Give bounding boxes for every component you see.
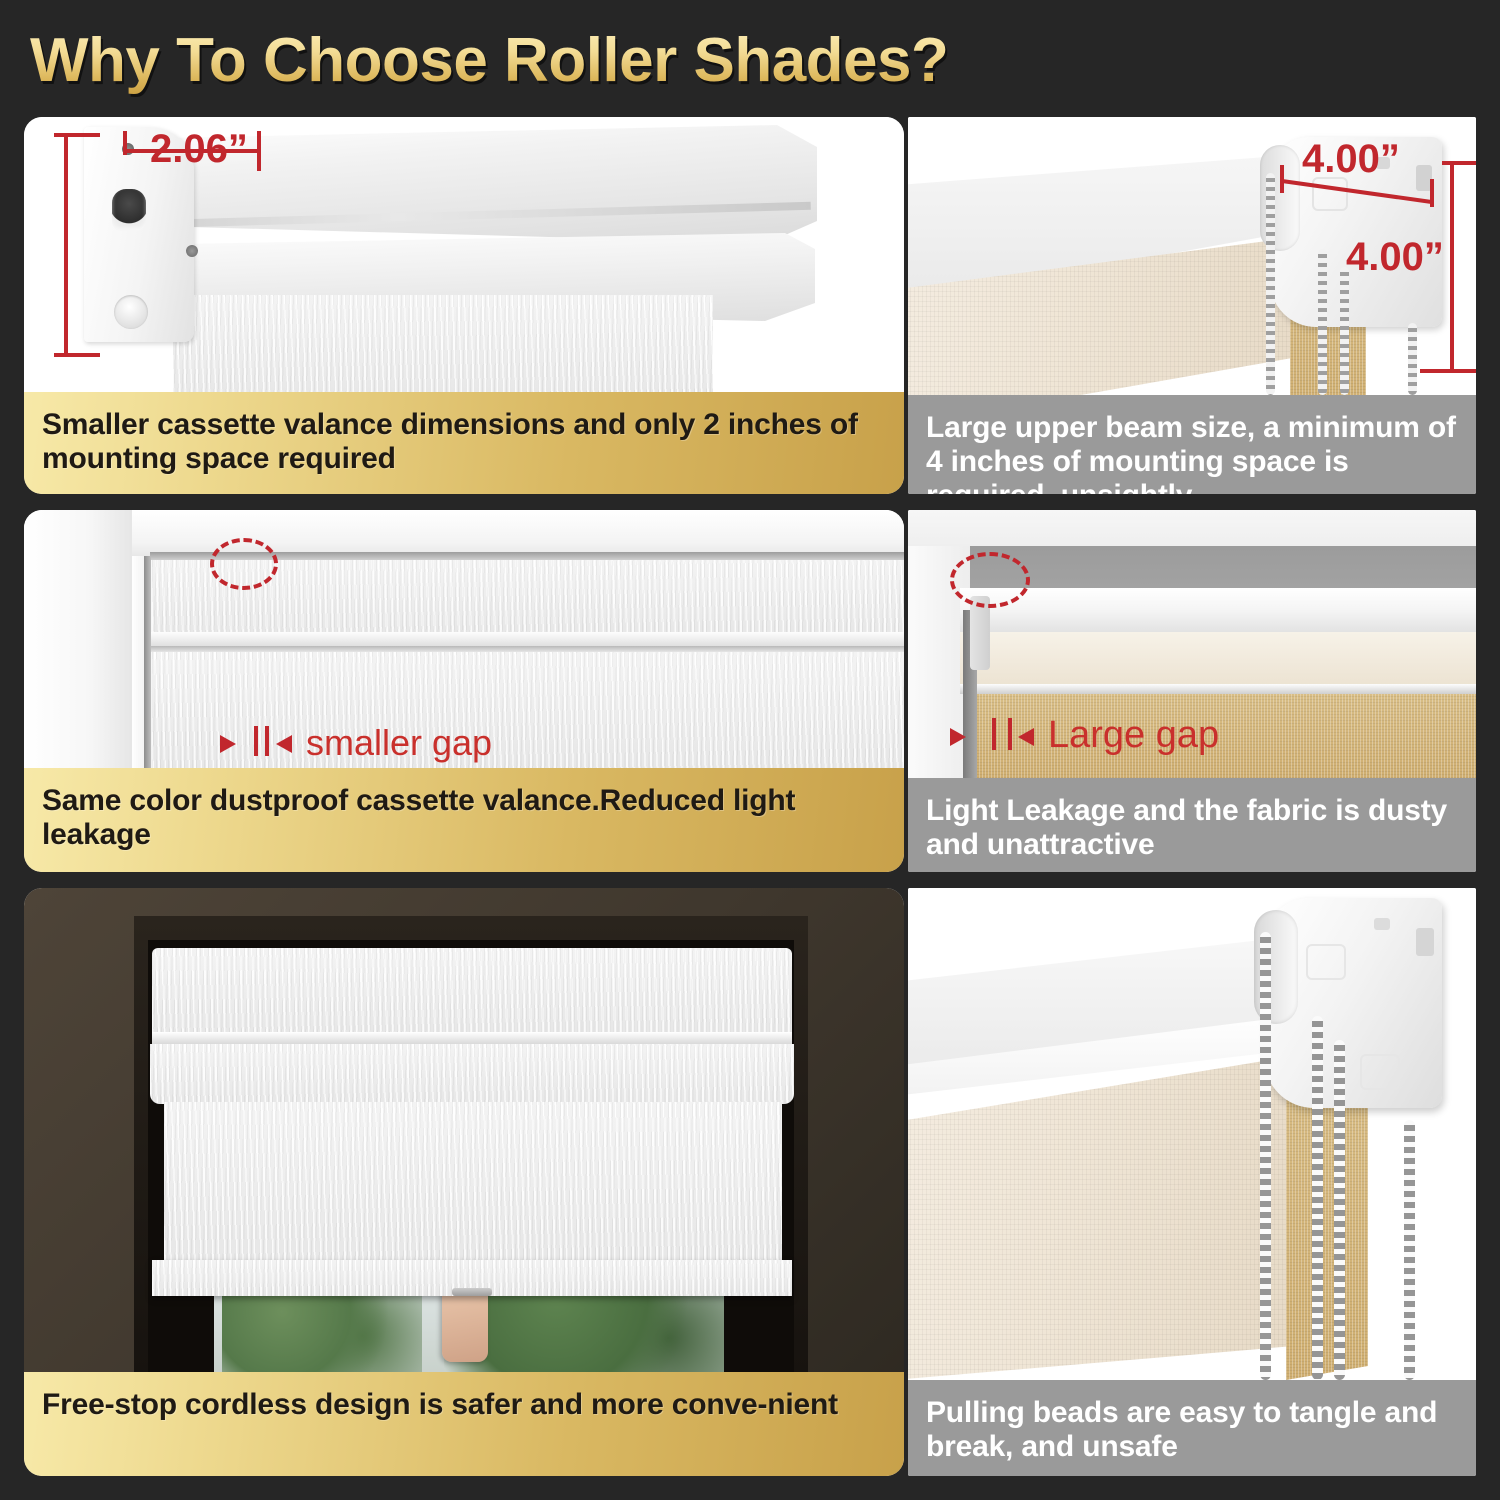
cassette-header	[152, 948, 792, 1036]
caption-con-large-gap: Light Leakage and the fabric is dusty an…	[908, 778, 1476, 872]
dim-beam-width-tick-left	[1280, 165, 1284, 193]
screw-boss-icon	[114, 295, 148, 329]
panel-pro-cordless-design: Free-stop cordless design is safer and m…	[24, 888, 904, 1476]
dim-width-tick-left	[123, 131, 127, 155]
gap-arrow-right-icon	[1018, 728, 1034, 746]
dim-beam-height-line	[1450, 163, 1454, 373]
bracket-emboss-icon	[1306, 944, 1346, 980]
cream-fabric-main	[908, 1056, 1294, 1380]
photo-large-gap: Large gap	[908, 510, 1476, 778]
callout-ring-icon	[210, 538, 278, 590]
bead-chain-3	[1334, 1040, 1345, 1380]
shade-fabric-drop	[164, 1102, 782, 1262]
clutch-opening-icon	[112, 189, 146, 231]
bracket-slot-2-icon	[1374, 918, 1390, 930]
dim-width-label: 2.06”	[150, 127, 248, 172]
rolled-tube	[150, 1044, 794, 1104]
gap-arrow-left-icon	[950, 728, 966, 746]
gap-arrow-left-icon	[220, 735, 236, 753]
screw-head-2-icon	[186, 245, 198, 257]
bead-chain-4	[1404, 1120, 1415, 1380]
callout-ring-icon	[950, 552, 1030, 608]
cream-valance-strip	[960, 632, 1476, 686]
bead-chain-1	[1266, 173, 1275, 395]
photo-smaller-gap: smaller gap	[24, 510, 904, 768]
tan-fabric-panel	[970, 694, 1476, 778]
caption-con-pulling-beads: Pulling beads are easy to tangle and bre…	[908, 1380, 1476, 1476]
bead-chain-1	[1260, 932, 1271, 1380]
page-title: Why To Choose Roller Shades?	[30, 22, 1230, 100]
bead-chain-4	[1408, 323, 1417, 395]
caption-pro-cassette-dimensions: Smaller cassette valance dimensions and …	[24, 392, 904, 494]
gap-tick-2	[265, 726, 269, 756]
gap-tick-1	[992, 718, 996, 750]
wall-upper	[908, 510, 1476, 546]
dim-height-tick-top	[54, 133, 100, 137]
panel-con-upper-beam-size: 4.00” 4.00” Large upper beam size, a min…	[908, 117, 1476, 494]
gap-label-large: Large gap	[1048, 714, 1219, 757]
caption-pro-cordless-design: Free-stop cordless design is safer and m…	[24, 1372, 904, 1476]
panel-con-pulling-beads: Pulling beads are easy to tangle and bre…	[908, 888, 1476, 1476]
gap-column	[144, 556, 151, 768]
dim-height-tick-bottom	[54, 353, 100, 357]
dim-width-tick-right	[257, 131, 261, 171]
dim-beam-width-label: 4.00”	[1302, 137, 1400, 182]
dim-beam-width-tick-right	[1430, 179, 1434, 207]
bead-chain-2	[1318, 249, 1327, 395]
gap-label-smaller: smaller gap	[306, 722, 492, 764]
bottom-rail-grip-icon	[452, 1288, 492, 1296]
cassette-header-ridge	[152, 1032, 792, 1044]
bracket-emboss-icon	[1312, 177, 1348, 211]
bracket-slot-icon	[1416, 928, 1434, 956]
shade-fabric	[173, 295, 713, 392]
valance-bottom-edge	[960, 684, 1476, 694]
panel-con-large-gap: Large gap Light Leakage and the fabric i…	[908, 510, 1476, 872]
bracket-emboss-2-icon	[1360, 1054, 1400, 1090]
photo-pulling-beads	[908, 888, 1476, 1380]
window-frame-left	[24, 510, 132, 768]
gap-tick-2	[1008, 718, 1012, 750]
caption-pro-smaller-gap: Same color dustproof cassette valance.Re…	[24, 768, 904, 872]
bead-chain-3	[1340, 267, 1349, 395]
dim-height-line	[64, 135, 68, 357]
photo-upper-beam: 4.00” 4.00”	[908, 117, 1476, 395]
photo-cassette-valance: 2.06” 5.49”	[24, 117, 904, 392]
panel-pro-smaller-gap: smaller gap Same color dustproof cassett…	[24, 510, 904, 872]
panel-pro-cassette-dimensions: 2.06” 5.49” Smaller cassette valance dim…	[24, 117, 904, 494]
mid-rail	[150, 632, 904, 646]
dim-beam-height-tick-bottom	[1420, 369, 1476, 373]
infographic-page: Why To Choose Roller Shades?	[0, 0, 1500, 1500]
dim-beam-height-label: 4.00”	[1346, 235, 1444, 280]
bead-chain-2	[1312, 1016, 1323, 1380]
gap-tick-1	[254, 726, 258, 756]
dim-beam-height-tick-top	[1442, 161, 1476, 165]
photo-cordless-window	[24, 888, 904, 1372]
caption-con-upper-beam-size: Large upper beam size, a minimum of 4 in…	[908, 395, 1476, 494]
gap-arrow-right-icon	[276, 735, 292, 753]
